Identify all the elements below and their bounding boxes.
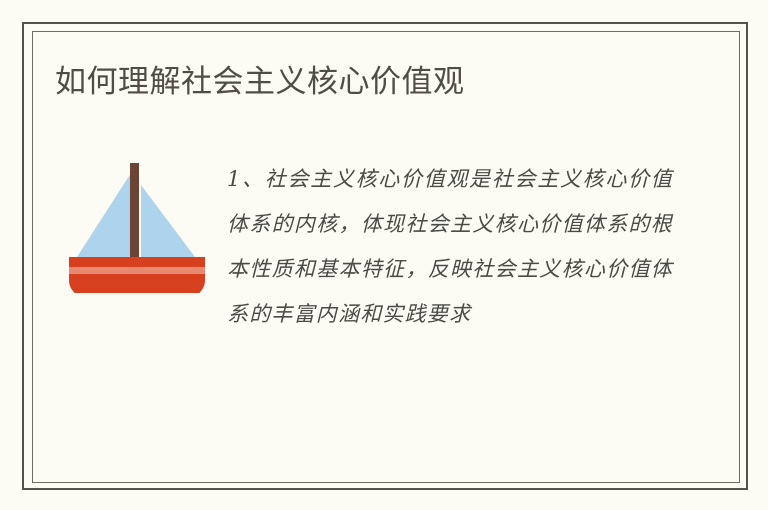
content-row: 1、社会主义核心价值观是社会主义核心价值体系的内核，体现社会主义核心价值体系的根… <box>55 145 705 425</box>
sailboat-icon <box>67 153 207 293</box>
page-title: 如何理解社会主义核心价值观 <box>55 61 695 103</box>
article-card: 如何理解社会主义核心价值观 1、社会主义核心价值观是社会主义核心价值体系的内核，… <box>0 0 768 510</box>
body-paragraph: 1、社会主义核心价值观是社会主义核心价值体系的内核，体现社会主义核心价值体系的根… <box>227 157 673 337</box>
